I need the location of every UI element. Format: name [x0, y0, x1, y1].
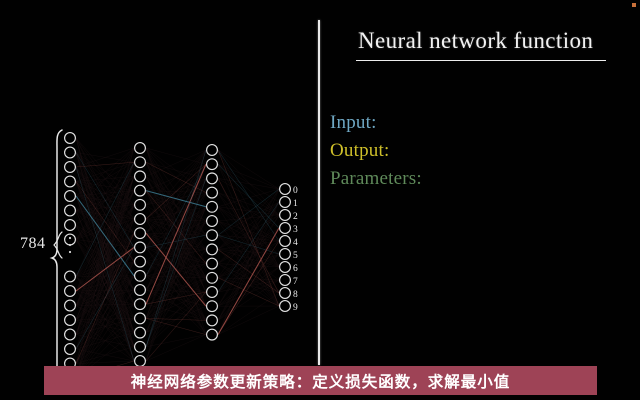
output-label-digit: 7: [293, 277, 298, 287]
network-node: [65, 220, 76, 231]
network-node: [135, 256, 146, 267]
network-node: [135, 270, 146, 281]
subtitle-bar: 神经网络参数更新策略：定义损失函数，求解最小值: [44, 366, 597, 395]
network-node: [280, 262, 291, 273]
network-node: [135, 157, 146, 168]
network-node: [207, 173, 218, 184]
network-node: [207, 272, 218, 283]
panel-divider: [318, 20, 320, 365]
network-node: [135, 143, 146, 154]
network-node: [65, 205, 76, 216]
output-label: Output:: [330, 140, 389, 162]
network-node: [135, 341, 146, 352]
network-node: [135, 242, 146, 253]
network-node: [280, 275, 291, 286]
network-node: [135, 313, 146, 324]
network-node: [135, 285, 146, 296]
ellipsis-dot: [69, 244, 71, 246]
network-node: [65, 234, 76, 245]
network-node: [280, 236, 291, 247]
output-label-digit: 6: [293, 264, 298, 274]
network-svg: 0123456789: [0, 0, 320, 400]
network-node: [280, 184, 291, 195]
network-node: [65, 315, 76, 326]
network-node: [207, 301, 218, 312]
network-node: [135, 356, 146, 367]
input-size-label: 784: [20, 235, 46, 253]
output-label-digit: 5: [293, 251, 298, 261]
network-node: [135, 327, 146, 338]
network-node: [207, 315, 218, 326]
network-node: [65, 191, 76, 202]
network-node: [207, 145, 218, 156]
network-node: [207, 329, 218, 340]
network-node: [280, 197, 291, 208]
network-node: [207, 244, 218, 255]
network-node: [207, 159, 218, 170]
network-node: [135, 171, 146, 182]
neural-network-diagram: 0123456789: [0, 0, 320, 400]
network-node: [280, 223, 291, 234]
output-label-digit: 0: [293, 186, 298, 196]
network-node: [207, 287, 218, 298]
network-node: [65, 133, 76, 144]
network-node: [65, 286, 76, 297]
network-node: [135, 299, 146, 310]
cursor-dot-icon: [632, 3, 636, 7]
network-node: [280, 301, 291, 312]
network-node: [135, 185, 146, 196]
ellipsis-dot: [69, 251, 71, 253]
network-node: [207, 258, 218, 269]
output-label-digit: 3: [293, 225, 298, 235]
network-node: [207, 187, 218, 198]
ellipsis-dot: [69, 237, 71, 239]
page-title: Neural network function: [358, 28, 593, 54]
parameters-label: Parameters:: [330, 168, 422, 190]
network-node: [65, 344, 76, 355]
network-node: [207, 230, 218, 241]
output-label-digit: 9: [293, 303, 298, 313]
output-label-digit: 2: [293, 212, 298, 222]
network-node: [280, 210, 291, 221]
output-label-digit: 1: [293, 199, 298, 209]
network-node: [207, 201, 218, 212]
network-node: [65, 271, 76, 282]
subtitle-text: 神经网络参数更新策略：定义损失函数，求解最小值: [131, 370, 511, 392]
slide-canvas: 0123456789 784 Neural network function I…: [0, 0, 640, 400]
output-labels: 0123456789: [293, 186, 298, 313]
output-label-digit: 4: [293, 238, 298, 248]
input-brace: [52, 130, 62, 386]
network-node: [135, 214, 146, 225]
network-node: [207, 216, 218, 227]
network-node: [65, 162, 76, 173]
network-node: [280, 249, 291, 260]
network-node: [135, 199, 146, 210]
network-node: [65, 300, 76, 311]
page-title-underline: [356, 60, 606, 61]
network-node: [65, 176, 76, 187]
network-node: [135, 228, 146, 239]
network-node: [65, 147, 76, 158]
network-node: [65, 329, 76, 340]
output-label-digit: 8: [293, 290, 298, 300]
network-node: [280, 288, 291, 299]
input-label: Input:: [330, 112, 377, 134]
input-size-brace: [54, 232, 62, 258]
